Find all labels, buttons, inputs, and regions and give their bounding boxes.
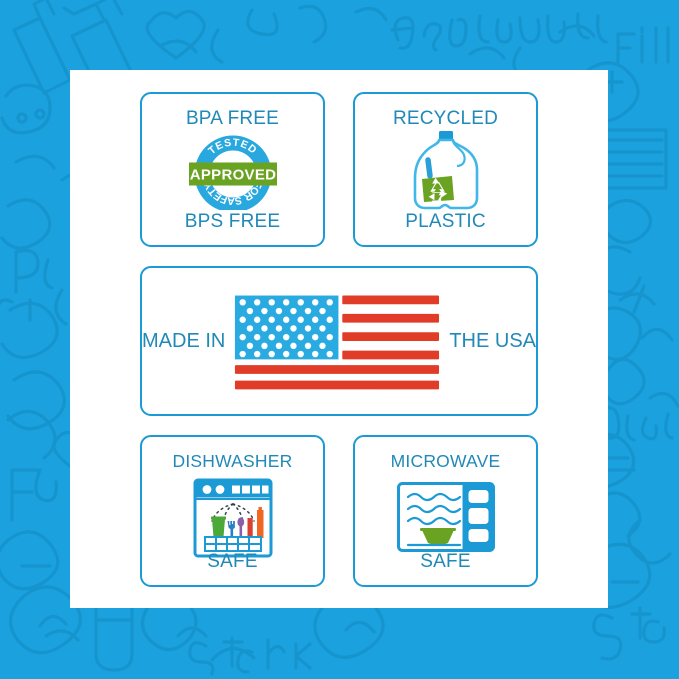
- microwave-icon-wrap: [355, 481, 536, 553]
- bps-free-bottom-label: BPS FREE: [142, 211, 323, 233]
- white-card: BPA FREE TESTED FOR SAFETY: [70, 70, 608, 608]
- recycled-top-label: RECYCLED: [355, 108, 536, 130]
- bpa-free-top-label: BPA FREE: [142, 108, 323, 130]
- dishwasher-top-label: DISHWASHER: [142, 451, 323, 472]
- microwave-icon: [396, 481, 496, 553]
- recycled-jug-icon: [406, 130, 486, 214]
- recycled-jug-icon-wrap: [355, 130, 536, 214]
- panel-bpa-free[interactable]: BPA FREE TESTED FOR SAFETY: [140, 92, 325, 247]
- approved-badge-icon-wrap: TESTED FOR SAFETY APPROVED: [142, 134, 323, 210]
- svg-text:APPROVED: APPROVED: [189, 167, 276, 184]
- dishwasher-icon-wrap: [142, 477, 323, 559]
- panel-microwave-safe[interactable]: MICROWAVE: [353, 435, 538, 587]
- microwave-top-label: MICROWAVE: [355, 451, 536, 472]
- dishwasher-icon: [192, 477, 274, 559]
- made-in-label: MADE IN: [142, 330, 225, 353]
- poster-root: BPA FREE TESTED FOR SAFETY: [0, 0, 679, 679]
- microwave-bottom-label: SAFE: [355, 551, 536, 573]
- the-usa-label: THE USA: [449, 330, 536, 353]
- panel-recycled-plastic[interactable]: RECYCLED: [353, 92, 538, 247]
- panel-dishwasher-safe[interactable]: DISHWASHER: [140, 435, 325, 587]
- dishwasher-bottom-label: SAFE: [142, 551, 323, 573]
- panel-made-in-usa[interactable]: MADE IN: [140, 266, 538, 416]
- approved-badge-icon: TESTED FOR SAFETY APPROVED: [185, 134, 281, 210]
- usa-flag-icon: [233, 291, 441, 391]
- plastic-bottom-label: PLASTIC: [355, 211, 536, 233]
